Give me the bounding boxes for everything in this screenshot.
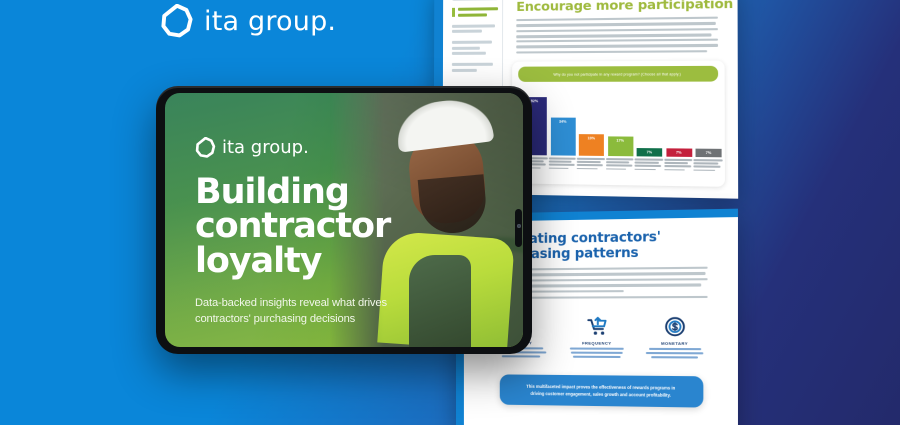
bar-chart: 52%34%19%17%7%7%7% [522, 88, 721, 157]
bar-value-label: 34% [559, 119, 566, 123]
cover-brand-name: ita group. [222, 137, 309, 158]
dollar-coin-icon [637, 314, 712, 339]
bar-value-label: 17% [616, 139, 624, 143]
tablet-screen: ita group. Building contractor loyalty D… [165, 93, 523, 347]
bar-category-label [605, 156, 635, 172]
bar-6: 7% [666, 149, 692, 157]
bar-category-label [634, 156, 664, 172]
rfm-title: FREQUENCY [561, 340, 634, 345]
headline-line-1: Building [195, 175, 395, 209]
bar-3: 19% [579, 134, 604, 156]
bar-value-label: 7% [706, 151, 712, 155]
brand-name: ita group. [204, 6, 336, 37]
subhead-line-2: contractors' purchasing decisions [195, 312, 395, 328]
bar-value-label: 7% [647, 151, 653, 155]
bar-value-label: 19% [588, 136, 596, 140]
bar-7: 7% [696, 149, 722, 157]
headline-line-2: contractor [195, 209, 395, 243]
bar-4: 17% [608, 137, 633, 157]
headline-line-3: loyalty [195, 244, 395, 278]
promo-composite-image: ita group. Encourage more participation [0, 0, 900, 425]
rfm-title: MONETARY [637, 341, 712, 346]
toc-chip [452, 0, 498, 1]
ita-group-hexagon-logo-icon [160, 4, 194, 38]
bar-category-label [548, 155, 577, 170]
bar-category-label [577, 156, 606, 172]
table-of-contents[interactable] [452, 0, 498, 79]
chart-card: Why do you not participate in any reward… [512, 61, 725, 187]
brand-lockup: ita group. [160, 4, 336, 38]
body-paragraph [516, 39, 718, 57]
toc-item[interactable] [452, 40, 498, 54]
toc-item-active[interactable] [452, 7, 498, 16]
cover-brand-lockup: ita group. [195, 137, 395, 158]
callout-banner: This multifaceted impact proves the effe… [500, 374, 704, 407]
rfm-monetary: MONETARY [637, 314, 712, 361]
bar-category-label [664, 157, 694, 173]
shopping-cart-up-arrow-icon [561, 314, 634, 339]
rfm-desc [561, 347, 634, 357]
camera-lens-icon [517, 224, 521, 228]
bar-value-label: 7% [676, 151, 682, 155]
tablet-device-mockup: ita group. Building contractor loyalty D… [156, 86, 532, 354]
bar-category-label [693, 157, 723, 173]
toc-item[interactable] [452, 63, 498, 72]
cover-content: ita group. Building contractor loyalty D… [195, 137, 395, 328]
cover-subhead: Data-backed insights reveal what drives … [195, 296, 395, 328]
body-paragraph [516, 17, 718, 42]
bar-value-label: 52% [531, 99, 538, 103]
callout-line-1: This multifaceted impact proves the effe… [526, 384, 675, 391]
chart-question-banner: Why do you not participate in any reward… [518, 66, 718, 82]
bar-2: 34% [550, 117, 575, 155]
toc-item[interactable] [452, 24, 498, 33]
camera-notch [515, 209, 522, 247]
bar-5: 7% [637, 148, 663, 156]
chart-question-text: Why do you not participate in any reward… [553, 72, 681, 76]
subhead-line-1: Data-backed insights reveal what drives [195, 296, 395, 312]
ita-group-hexagon-logo-icon [195, 137, 216, 158]
callout-line-2: driving customer engagement, sales growt… [530, 391, 670, 398]
rfm-frequency: FREQUENCY [561, 314, 634, 360]
cover-headline: Building contractor loyalty [195, 175, 395, 278]
rfm-desc [637, 348, 712, 358]
page-title: Encourage more participation [516, 0, 733, 14]
